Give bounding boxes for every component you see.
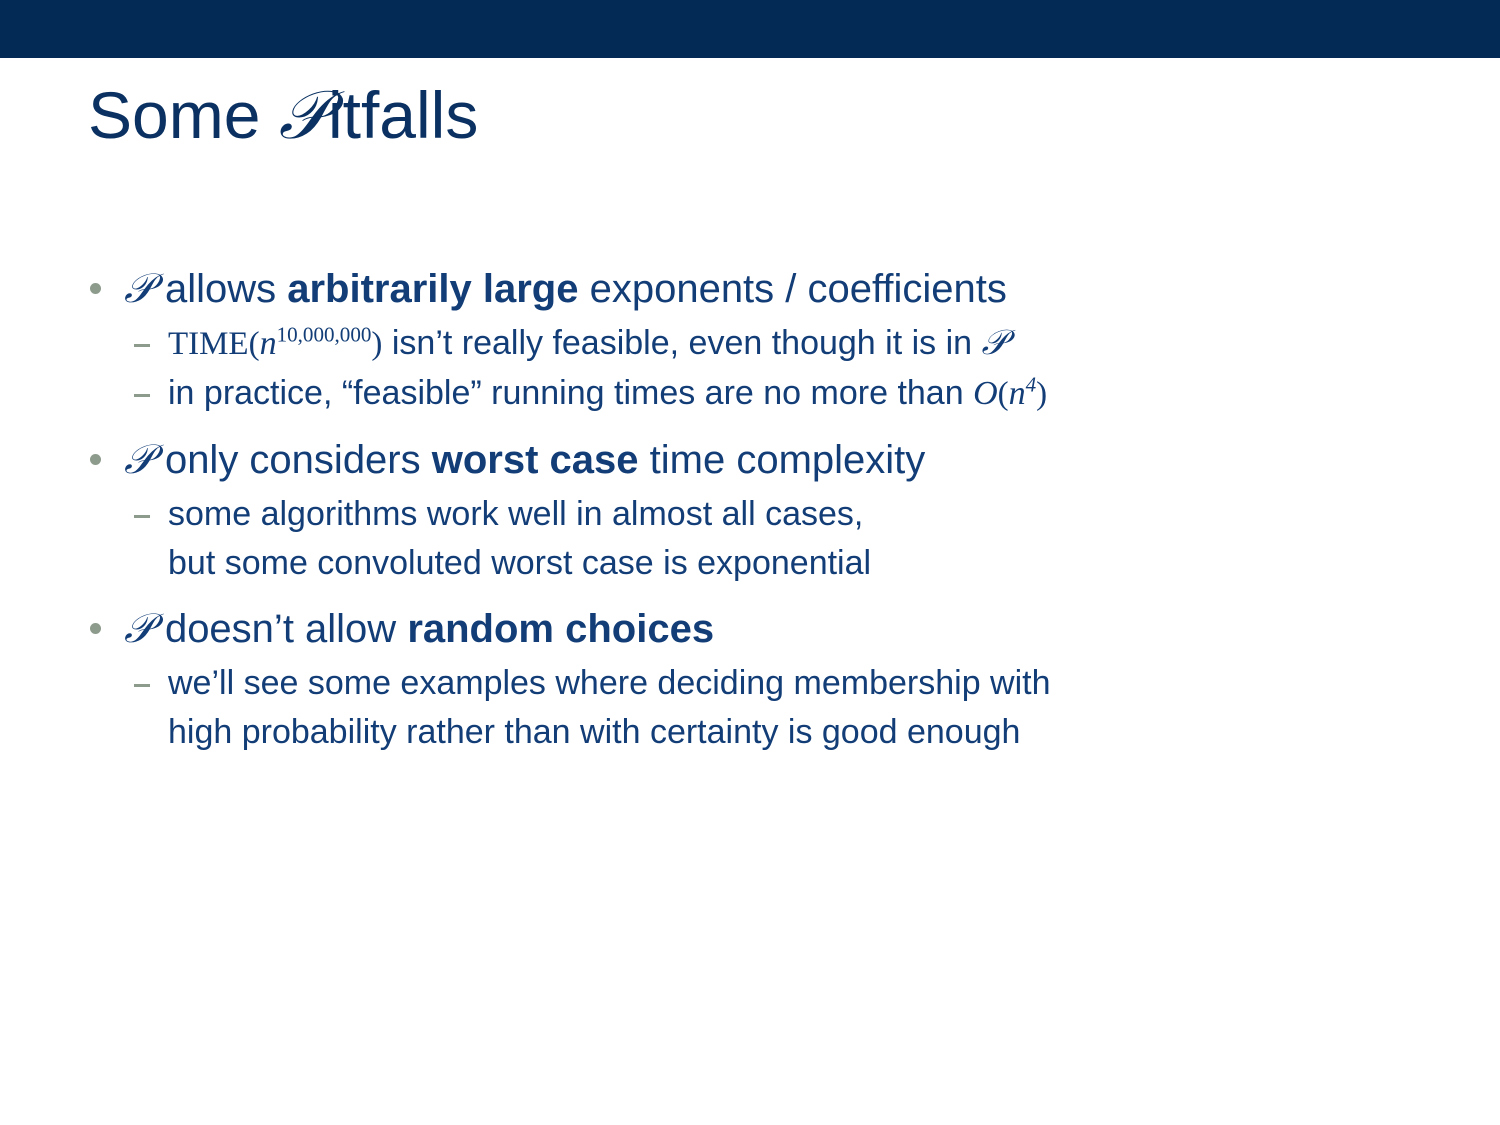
bullet-level2: TIME(n10,000,000) isn’t really feasible,… [82,319,1422,369]
bullet-level2: we’ll see some examples where deciding m… [82,659,1422,708]
title-prefix: Some [88,78,279,152]
close-paren: ) [371,326,382,362]
bullet-bold-phrase: random choices [407,607,714,651]
big-o-expression: O(n4) [973,374,1047,412]
open-paren: ( [998,376,1009,412]
bullet-dash-icon [134,394,150,397]
header-bar [0,0,1500,58]
sub-bullet-group: we’ll see some examples where deciding m… [82,659,1422,757]
bullet-text-before-bold: allows [154,267,287,311]
bullet-dot-icon [90,623,101,634]
page-title: Some 𝒫itfalls [88,78,478,152]
script-p-symbol: 𝒫 [124,604,154,652]
sub-bullet-text: in practice, “feasible” running times ar… [168,374,973,412]
sub-bullet-group: some algorithms work well in almost all … [82,490,1422,588]
time-expression: TIME(n10,000,000) [168,324,382,362]
sub-bullet-text: isn’t really feasible, even though it is… [382,324,981,362]
bullet-dash-icon [134,344,150,347]
bullet-dot-icon [90,454,101,465]
bullet-bold-phrase: worst case [432,438,639,482]
bullet-level1: 𝒫 doesn’t allow random choices [82,602,1422,655]
close-paren: ) [1036,376,1047,412]
bullet-level1: 𝒫 only considers worst case time complex… [82,433,1422,486]
bullet-bold-phrase: arbitrarily large [287,267,578,311]
bullet-text-after-bold: time complexity [639,438,926,482]
title-suffix: itfalls [328,78,478,152]
big-o-symbol: O [973,375,998,412]
script-p-symbol: 𝒫 [982,323,1007,363]
sub-bullet-text: we’ll see some examples where deciding m… [168,664,1051,702]
sub-bullet-text: some algorithms work well in almost all … [168,495,863,533]
bullet-dash-icon [134,684,150,687]
bullet-text-before-bold: only considers [154,438,432,482]
bullet-dash-icon [134,515,150,518]
sub-bullet-wrapped-line: high probability rather than with certai… [82,708,1422,757]
bullet-dot-icon [90,283,101,294]
content-body: 𝒫 allows arbitrarily large exponents / c… [82,262,1422,771]
script-p-symbol: 𝒫 [124,435,154,483]
variable-n: n [260,325,277,362]
script-p-symbol: 𝒫 [124,264,154,312]
sub-bullet-wrapped-line: but some convoluted worst case is expone… [82,539,1422,588]
time-function-name: TIME [168,326,249,362]
variable-n: n [1009,375,1026,412]
open-paren: ( [249,326,260,362]
bullet-text-after-bold: exponents / coefficients [578,267,1006,311]
bullet-level2: in practice, “feasible” running times ar… [82,369,1422,419]
exponent-value: 4 [1026,373,1037,397]
bullet-level2: some algorithms work well in almost all … [82,490,1422,539]
slide: Some 𝒫itfalls 𝒫 allows arbitrarily large… [0,0,1500,1125]
exponent-value: 10,000,000 [277,323,372,347]
title-script-p: 𝒫 [279,76,328,154]
bullet-text-before-bold: doesn’t allow [154,607,407,651]
bullet-level1: 𝒫 allows arbitrarily large exponents / c… [82,262,1422,315]
sub-bullet-group: TIME(n10,000,000) isn’t really feasible,… [82,319,1422,419]
